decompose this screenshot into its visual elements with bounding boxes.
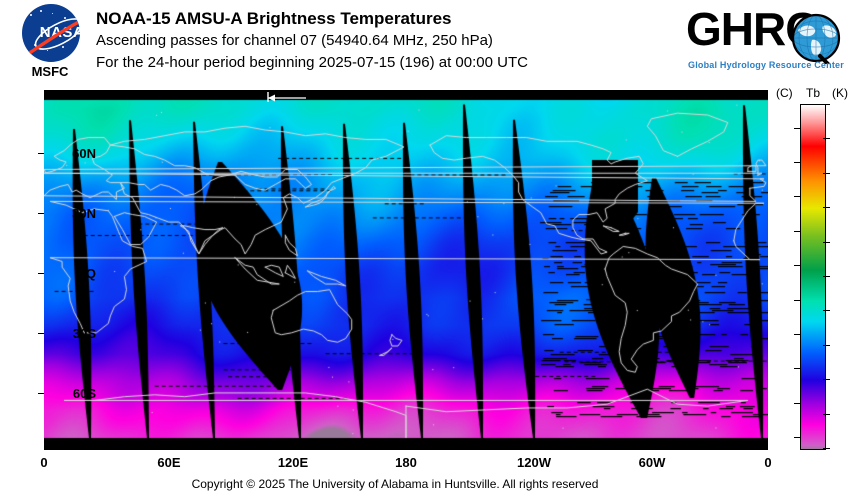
xtick-label-120e: 120E	[265, 455, 321, 470]
colorbar-tick-k-250	[823, 276, 830, 277]
brightness-temperature-map[interactable]	[44, 90, 768, 450]
colorbar-title: Tb	[806, 86, 820, 100]
subtitle-channel: Ascending passes for channel 07 (54940.6…	[96, 30, 676, 52]
nasa-swoosh-icon	[24, 8, 80, 60]
copyright-notice: Copyright © 2025 The University of Alaba…	[0, 477, 790, 491]
map-plot-area[interactable]	[44, 90, 768, 450]
ytick-label-60s: 60S	[73, 386, 96, 401]
colorbar-unit-celsius: (C)	[776, 86, 793, 100]
colorbar-tick-c--70	[794, 437, 801, 438]
xtick-label-60w: 60W	[627, 455, 677, 470]
xtick-label-180: 180	[381, 455, 431, 470]
ytick-label-eq: EQ	[77, 266, 96, 281]
colorbar-tick-c--20	[794, 265, 801, 266]
colorbar-tick-k-280	[823, 173, 830, 174]
colorbar-tick-c--40	[794, 334, 801, 335]
colorbar-tick-c--50	[794, 368, 801, 369]
colorbar-tick-k-210	[823, 414, 830, 415]
colorbar-tick-k-290	[823, 138, 830, 139]
colorbar-tick-k-300	[823, 104, 830, 105]
nasa-center-label: MSFC	[10, 64, 90, 79]
colorbar-tick-k-260	[823, 242, 830, 243]
ytick-label-30s: 30S	[73, 326, 96, 341]
nasa-insignia-circle: NASA	[22, 4, 80, 62]
xtick-label-360: 0	[748, 455, 788, 470]
colorbar[interactable]: 30029028027026025024023022021020020100-1…	[800, 104, 824, 448]
colorbar-unit-kelvin: (K)	[832, 86, 848, 100]
ghrc-subtitle: Global Hydrology Resource Center	[688, 60, 848, 70]
colorbar-tick-c--30	[794, 300, 801, 301]
title-block: NOAA-15 AMSU-A Brightness Temperatures A…	[96, 8, 676, 74]
xtick-label-120w: 120W	[506, 455, 562, 470]
ytick-mark-60s	[38, 393, 44, 394]
ytick-mark-30s	[38, 333, 44, 334]
colorbar-gradient	[800, 104, 826, 450]
page-title: NOAA-15 AMSU-A Brightness Temperatures	[96, 8, 676, 30]
swath-start-marker-icon	[264, 92, 308, 102]
header: NASA MSFC NOAA-15 AMSU-A Brightness Temp…	[0, 0, 854, 88]
globe-icon	[790, 12, 842, 64]
colorbar-tick-k-230	[823, 345, 830, 346]
ytick-mark-60n	[38, 153, 44, 154]
ytick-mark-30n	[38, 213, 44, 214]
ytick-label-30n: 30N	[72, 206, 96, 221]
colorbar-tick-k-240	[823, 310, 830, 311]
colorbar-tick-c--60	[794, 403, 801, 404]
colorbar-tick-c-10	[794, 162, 801, 163]
colorbar-tick-c-20	[794, 128, 801, 129]
ytick-mark-eq	[38, 273, 44, 274]
colorbar-tick-k-270	[823, 207, 830, 208]
map-frame	[44, 90, 768, 450]
colorbar-tick-k-220	[823, 379, 830, 380]
subtitle-period: For the 24-hour period beginning 2025-07…	[96, 52, 676, 74]
xtick-label-0e: 0	[24, 455, 64, 470]
ghrc-logo: GHRC Global Hydro	[686, 4, 850, 80]
colorbar-tick-c--10	[794, 231, 801, 232]
xtick-label-60e: 60E	[144, 455, 194, 470]
ytick-label-60n: 60N	[72, 146, 96, 161]
colorbar-tick-c-0	[794, 196, 801, 197]
colorbar-tick-k-200	[823, 448, 830, 449]
nasa-logo: NASA MSFC	[10, 4, 90, 86]
